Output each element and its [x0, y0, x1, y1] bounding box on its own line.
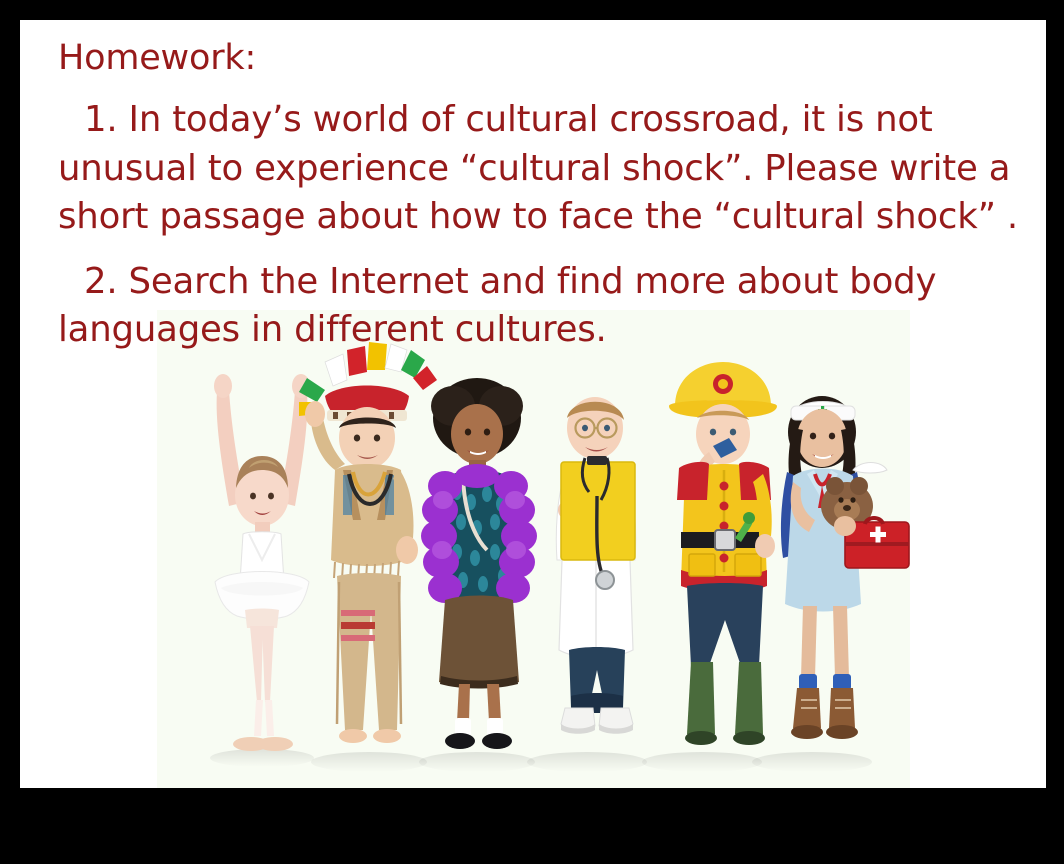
- slide-canvas: Homework: 1. In today’s world of cultura…: [20, 20, 1046, 788]
- homework-item-1: 1. In today’s world of cultural crossroa…: [58, 96, 1030, 242]
- children-photo-illustration: [157, 310, 910, 788]
- slide-frame: Homework: 1. In today’s world of cultura…: [0, 0, 1064, 864]
- homework-text-block: Homework: 1. In today’s world of cultura…: [58, 34, 1030, 365]
- homework-heading: Homework:: [58, 34, 1030, 82]
- homework-item-2: 2. Search the Internet and find more abo…: [58, 258, 1030, 355]
- children-costumes-photo: [157, 310, 910, 788]
